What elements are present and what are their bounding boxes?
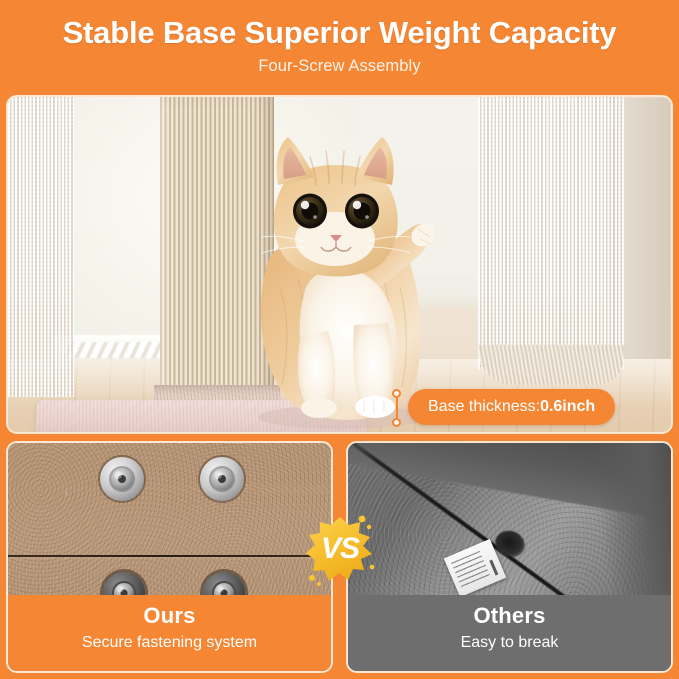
sheer-curtain-left bbox=[8, 97, 74, 397]
ours-caption: Secure fastening system bbox=[8, 631, 331, 655]
dimension-dot-top bbox=[392, 389, 401, 398]
board-seam-line bbox=[8, 555, 331, 557]
cat-photo bbox=[234, 111, 434, 433]
label-tag-text-lines bbox=[451, 551, 491, 590]
base-thickness-dimension-marker bbox=[392, 389, 401, 427]
ours-label-bar: Ours Secure fastening system bbox=[8, 595, 331, 671]
others-scene: Others Easy to break bbox=[348, 443, 671, 671]
page-title: Stable Base Superior Weight Capacity bbox=[0, 14, 679, 52]
screw-top-left-icon bbox=[96, 453, 148, 505]
ours-title: Ours bbox=[8, 601, 331, 631]
header: Stable Base Superior Weight Capacity Fou… bbox=[0, 0, 679, 92]
page-subtitle: Four-Screw Assembly bbox=[0, 57, 679, 76]
hero-scene: Base thickness: 0.6inch bbox=[8, 97, 671, 432]
base-thickness-label: Base thickness: bbox=[428, 398, 540, 416]
base-thickness-badge: Base thickness: 0.6inch bbox=[408, 389, 615, 425]
infographic-page: Stable Base Superior Weight Capacity Fou… bbox=[0, 0, 679, 679]
others-label-bar: Others Easy to break bbox=[348, 595, 671, 671]
base-thickness-value: 0.6inch bbox=[540, 398, 595, 416]
others-caption: Easy to break bbox=[348, 631, 671, 655]
sheer-curtain-right bbox=[478, 97, 624, 369]
others-comparison-panel: Others Easy to break bbox=[346, 441, 673, 673]
ours-comparison-panel: Ours Secure fastening system bbox=[6, 441, 333, 673]
hero-image-panel: Base thickness: 0.6inch bbox=[6, 95, 673, 434]
versus-label: VS bbox=[302, 512, 378, 588]
label-tag-barcode bbox=[489, 560, 498, 576]
dimension-dot-bottom bbox=[392, 418, 401, 427]
ours-scene: Ours Secure fastening system bbox=[8, 443, 331, 671]
screw-top-right-icon bbox=[196, 453, 248, 505]
curtain-hem-right bbox=[478, 345, 624, 385]
others-title: Others bbox=[348, 601, 671, 631]
versus-badge: VS bbox=[302, 512, 378, 588]
